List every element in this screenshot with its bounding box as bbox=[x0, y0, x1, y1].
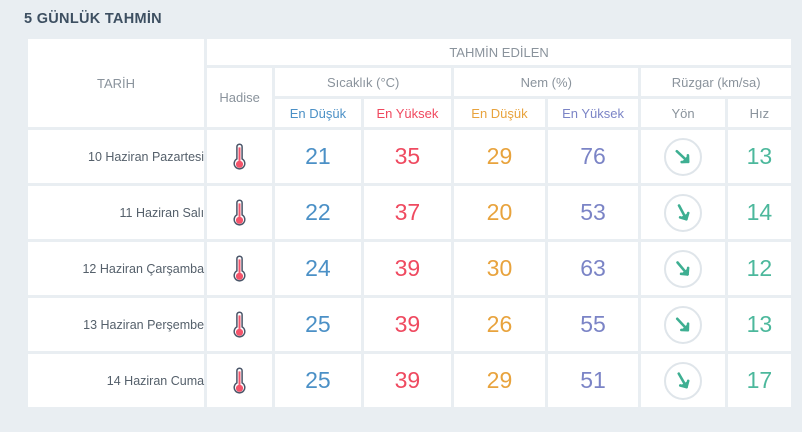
thermometer-icon bbox=[231, 310, 248, 340]
header-humidity-min: En Düşük bbox=[454, 99, 545, 127]
header-humidity: Nem (%) bbox=[454, 68, 638, 96]
header-forecast-group: TAHMİN EDİLEN bbox=[207, 39, 791, 65]
cell-event bbox=[207, 242, 272, 295]
cell-temp-max: 35 bbox=[364, 130, 452, 183]
cell-date: 11 Haziran Salı bbox=[28, 186, 204, 239]
cell-event bbox=[207, 130, 272, 183]
cell-wind-direction bbox=[641, 242, 724, 295]
wind-direction-circle bbox=[664, 250, 702, 288]
wind-direction-circle bbox=[664, 306, 702, 344]
cell-temp-min: 21 bbox=[275, 130, 360, 183]
cell-wind-direction bbox=[641, 186, 724, 239]
header-wind-direction: Yön bbox=[641, 99, 724, 127]
cell-wind-speed: 13 bbox=[728, 130, 791, 183]
cell-humidity-min: 29 bbox=[454, 130, 545, 183]
thermometer-icon-holder bbox=[207, 242, 272, 295]
cell-wind-speed: 14 bbox=[728, 186, 791, 239]
cell-humidity-max: 51 bbox=[548, 354, 639, 407]
cell-temp-min: 25 bbox=[275, 354, 360, 407]
header-temp-max: En Yüksek bbox=[364, 99, 452, 127]
cell-date: 13 Haziran Perşembe bbox=[28, 298, 204, 351]
wind-direction-icon-holder bbox=[641, 186, 724, 239]
cell-wind-direction bbox=[641, 130, 724, 183]
wind-direction-icon-holder bbox=[641, 242, 724, 295]
cell-event bbox=[207, 298, 272, 351]
header-temp-min: En Düşük bbox=[275, 99, 360, 127]
cell-date: 14 Haziran Cuma bbox=[28, 354, 204, 407]
wind-direction-circle bbox=[664, 194, 702, 232]
cell-humidity-min: 26 bbox=[454, 298, 545, 351]
cell-humidity-min: 30 bbox=[454, 242, 545, 295]
cell-wind-speed: 13 bbox=[728, 298, 791, 351]
arrow-icon bbox=[671, 257, 695, 281]
wind-direction-icon-holder bbox=[641, 130, 724, 183]
cell-humidity-max: 55 bbox=[548, 298, 639, 351]
table-head: TARİH TAHMİN EDİLEN Hadise Sıcaklık (°C)… bbox=[28, 39, 791, 127]
header-temperature: Sıcaklık (°C) bbox=[275, 68, 451, 96]
arrow-icon bbox=[672, 313, 695, 336]
forecast-page: 5 GÜNLÜK TAHMİN TARİH TAHMİN EDİLEN Hadi bbox=[0, 0, 802, 432]
cell-event bbox=[207, 354, 272, 407]
cell-temp-min: 25 bbox=[275, 298, 360, 351]
cell-wind-speed: 12 bbox=[728, 242, 791, 295]
table-row: 13 Haziran Perşembe2539265513 bbox=[28, 298, 791, 351]
page-title: 5 GÜNLÜK TAHMİN bbox=[24, 11, 162, 27]
cell-temp-max: 39 bbox=[364, 354, 452, 407]
cell-humidity-max: 76 bbox=[548, 130, 639, 183]
header-wind-speed: Hız bbox=[728, 99, 791, 127]
thermometer-icon bbox=[231, 366, 248, 396]
thermometer-icon-holder bbox=[207, 298, 272, 351]
cell-humidity-min: 29 bbox=[454, 354, 545, 407]
thermometer-icon-holder bbox=[207, 186, 272, 239]
cell-wind-direction bbox=[641, 298, 724, 351]
thermometer-icon bbox=[231, 254, 248, 284]
table-body: 10 Haziran Pazartesi213529761311 Haziran… bbox=[28, 130, 791, 407]
header-event: Hadise bbox=[207, 68, 272, 127]
table-row: 12 Haziran Çarşamba2439306312 bbox=[28, 242, 791, 295]
arrow-icon bbox=[669, 199, 696, 226]
wind-direction-icon-holder bbox=[641, 354, 724, 407]
header-humidity-max: En Yüksek bbox=[548, 99, 639, 127]
table-row: 11 Haziran Salı2237205314 bbox=[28, 186, 791, 239]
cell-temp-max: 39 bbox=[364, 242, 452, 295]
cell-wind-speed: 17 bbox=[728, 354, 791, 407]
cell-date: 12 Haziran Çarşamba bbox=[28, 242, 204, 295]
thermometer-icon bbox=[231, 142, 248, 172]
cell-event bbox=[207, 186, 272, 239]
header-row-group: TARİH TAHMİN EDİLEN bbox=[28, 39, 791, 65]
cell-temp-min: 22 bbox=[275, 186, 360, 239]
thermometer-icon bbox=[231, 198, 248, 228]
wind-direction-icon-holder bbox=[641, 298, 724, 351]
header-wind: Rüzgar (km/sa) bbox=[641, 68, 791, 96]
cell-temp-min: 24 bbox=[275, 242, 360, 295]
wind-direction-circle bbox=[664, 362, 702, 400]
arrow-icon bbox=[670, 367, 697, 394]
forecast-table: TARİH TAHMİN EDİLEN Hadise Sıcaklık (°C)… bbox=[25, 36, 794, 410]
cell-humidity-max: 53 bbox=[548, 186, 639, 239]
cell-wind-direction bbox=[641, 354, 724, 407]
cell-humidity-max: 63 bbox=[548, 242, 639, 295]
cell-date: 10 Haziran Pazartesi bbox=[28, 130, 204, 183]
thermometer-icon-holder bbox=[207, 130, 272, 183]
cell-temp-max: 37 bbox=[364, 186, 452, 239]
thermometer-icon-holder bbox=[207, 354, 272, 407]
table-row: 10 Haziran Pazartesi2135297613 bbox=[28, 130, 791, 183]
table-row: 14 Haziran Cuma2539295117 bbox=[28, 354, 791, 407]
arrow-icon bbox=[672, 145, 695, 168]
header-date: TARİH bbox=[28, 39, 204, 127]
wind-direction-circle bbox=[664, 138, 702, 176]
forecast-table-container: TARİH TAHMİN EDİLEN Hadise Sıcaklık (°C)… bbox=[25, 36, 794, 410]
cell-humidity-min: 20 bbox=[454, 186, 545, 239]
cell-temp-max: 39 bbox=[364, 298, 452, 351]
